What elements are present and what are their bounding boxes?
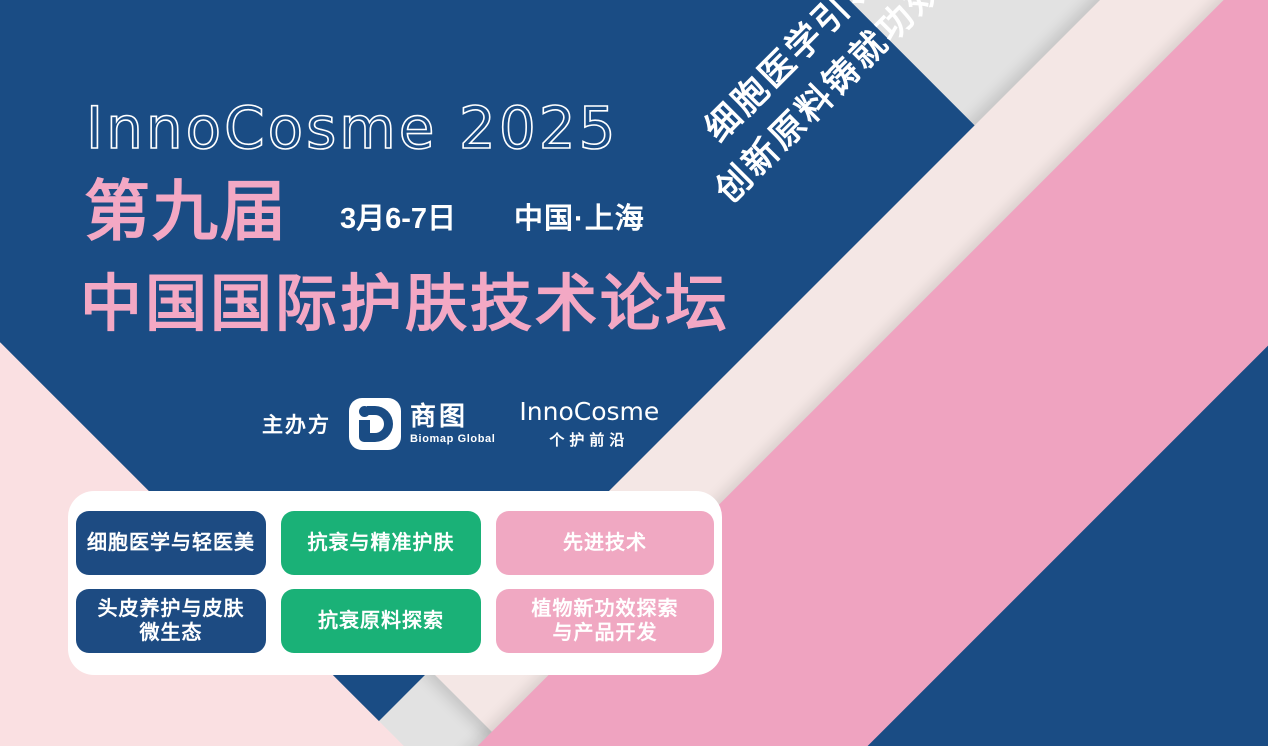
biomap-wordmark: 商图 Biomap Global (410, 403, 495, 445)
event-title-en: InnoCosme 2025 (86, 94, 619, 162)
innocosme-name-cn: 个护前沿 (549, 429, 629, 450)
topics-row: 细胞医学与轻医美抗衰与精准护肤先进技术 (68, 511, 722, 575)
topic-tag[interactable]: 抗衰与精准护肤 (281, 511, 481, 575)
event-date: 3月6-7日 (340, 195, 456, 237)
biomap-droplet-icon (349, 398, 401, 450)
edition-label: 第九届 (84, 178, 288, 244)
topic-tag[interactable]: 植物新功效探索与产品开发 (496, 589, 714, 653)
topics-card: 细胞医学与轻医美抗衰与精准护肤先进技术头皮养护与皮肤微生态抗衰原料探索植物新功效… (68, 491, 722, 675)
topic-tag[interactable]: 细胞医学与轻医美 (76, 511, 266, 575)
topic-tag[interactable]: 头皮养护与皮肤微生态 (76, 589, 266, 653)
topics-row: 头皮养护与皮肤微生态抗衰原料探索植物新功效探索与产品开发 (68, 589, 722, 653)
event-city: 中国·上海 (514, 195, 645, 237)
innocosme-wordmark: InnoCosme 个护前沿 (519, 398, 659, 450)
topic-tag[interactable]: 抗衰原料探索 (281, 589, 481, 653)
biomap-name-cn: 商图 (410, 403, 495, 431)
topic-tag[interactable]: 先进技术 (496, 511, 714, 575)
poster-canvas: InnoCosme 2025 第九届 3月6-7日 中国·上海 中国国际护肤技术… (0, 0, 1268, 746)
organizer-row: 主办方 商图 Biomap Global InnoCosme 个护前沿 (262, 398, 659, 450)
organizer-label: 主办方 (262, 409, 331, 439)
edition-date-row: 第九届 3月6-7日 中国·上海 (84, 178, 645, 244)
event-title-cn: 中国国际护肤技术论坛 (80, 272, 730, 339)
innocosme-name-en: InnoCosme (519, 398, 659, 426)
biomap-name-en: Biomap Global (410, 433, 495, 445)
